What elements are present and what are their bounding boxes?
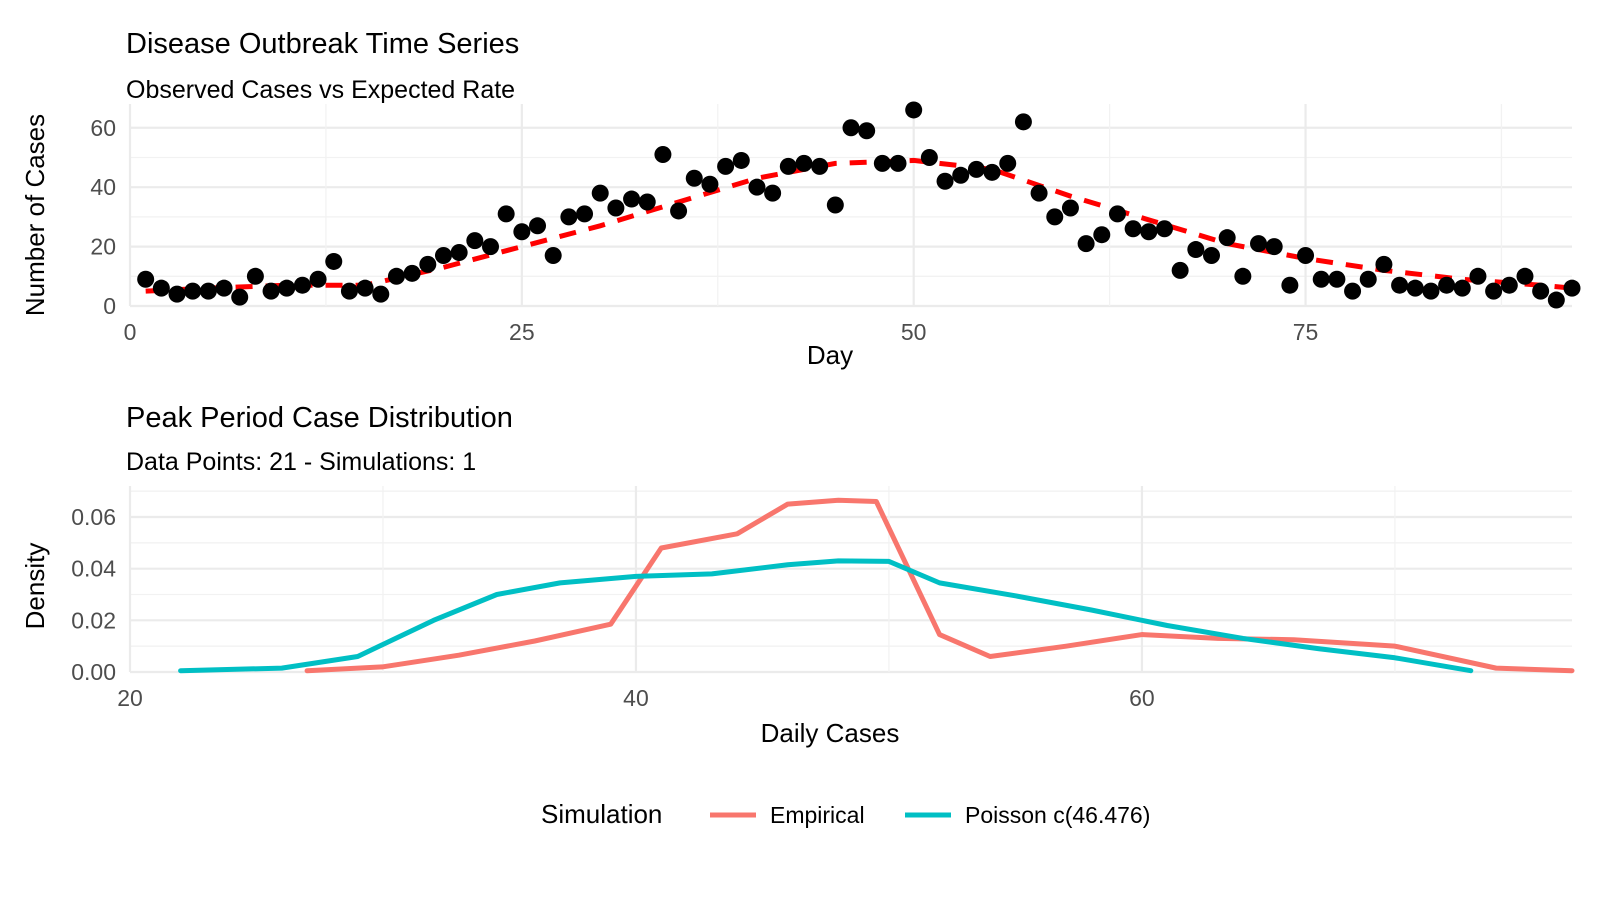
data-point [874,155,891,172]
panel-bottom-subtitle: Data Points: 21 - Simulations: 1 [126,448,476,476]
data-point [419,256,436,273]
data-point [795,155,812,172]
data-point [216,280,233,297]
data-point [294,277,311,294]
x-tick-75: 75 [1293,319,1319,345]
data-point [341,283,358,300]
data-point [670,202,687,219]
y-tick-20: 20 [90,234,116,260]
data-point [482,238,499,255]
data-point [451,244,468,261]
legend-item-label: Empirical [770,802,865,828]
data-point [1313,271,1330,288]
panel-top-x-axis-title: Day [807,340,853,370]
data-point [153,280,170,297]
data-point [1203,247,1220,264]
panel-top-title: Disease Outbreak Time Series [126,28,519,60]
data-point [984,164,1001,181]
data-point [1516,268,1533,285]
data-point [811,158,828,175]
data-point [1078,235,1095,252]
data-point [1031,185,1048,202]
data-point [137,271,154,288]
x-tick-40: 40 [623,685,649,711]
data-point [545,247,562,264]
y-tick-0: 0 [103,293,116,319]
data-point [357,280,374,297]
data-point [310,271,327,288]
data-point [1015,113,1032,130]
data-point [1156,220,1173,237]
data-point [1501,277,1518,294]
data-point [404,265,421,282]
data-point [498,205,515,222]
data-point [623,191,640,208]
figure-canvas: Disease Outbreak Time Series Observed Ca… [0,0,1600,900]
data-point [764,185,781,202]
data-point [1281,277,1298,294]
data-point [576,205,593,222]
data-point [325,253,342,270]
data-point [968,161,985,178]
data-point [263,283,280,300]
data-point [1234,268,1251,285]
data-point [529,217,546,234]
x-tick-60: 60 [1129,685,1155,711]
data-point [1046,208,1063,225]
legend-title: Simulation [541,799,662,829]
panel-bottom-x-axis-title: Daily Cases [761,718,900,748]
data-point [200,283,217,300]
data-point [701,176,718,193]
data-point [1172,262,1189,279]
data-point [1407,280,1424,297]
data-point [748,179,765,196]
data-point [1328,271,1345,288]
data-point [921,149,938,166]
data-point [1548,292,1565,309]
data-point [513,223,530,240]
data-point [1187,241,1204,258]
panel-bottom-title: Peak Period Case Distribution [126,402,513,434]
data-point [278,280,295,297]
legend: Simulation EmpiricalPoisson c(46.476) [541,799,1150,829]
legend-item-label: Poisson c(46.476) [965,802,1150,828]
data-point [1422,283,1439,300]
data-point [1454,280,1471,297]
data-point [890,155,907,172]
data-point [999,155,1016,172]
data-point [247,268,264,285]
data-point [607,199,624,216]
data-point [937,173,954,190]
data-point [592,185,609,202]
data-point [1093,226,1110,243]
data-point [1109,205,1126,222]
data-point [905,101,922,118]
data-point [1062,199,1079,216]
data-point [1219,229,1236,246]
data-point [717,158,734,175]
data-point [435,247,452,264]
data-point [827,197,844,214]
data-point [560,208,577,225]
data-point [1469,268,1486,285]
data-point [1297,247,1314,264]
panel-top-y-axis-title: Number of Cases [20,114,50,316]
data-point [639,194,656,211]
data-point [1564,280,1581,297]
data-point [952,167,969,184]
data-point [372,286,389,303]
data-point [733,152,750,169]
y-tick-0: 0.00 [71,659,116,685]
data-point [184,283,201,300]
y-tick-0.02: 0.02 [71,607,116,633]
data-point [1360,271,1377,288]
data-point [1438,277,1455,294]
panel-top-subtitle: Observed Cases vs Expected Rate [126,76,515,104]
data-point [1532,283,1549,300]
data-point [858,122,875,139]
data-point [1391,277,1408,294]
y-tick-40: 40 [90,174,116,200]
data-point [843,119,860,136]
data-point [388,268,405,285]
data-point [686,170,703,187]
data-point [1344,283,1361,300]
data-point [169,286,186,303]
data-point [1375,256,1392,273]
x-tick-20: 20 [117,685,143,711]
data-point [231,289,248,306]
panel-bottom-y-axis-title: Density [20,543,50,630]
data-point [1140,223,1157,240]
data-point [1250,235,1267,252]
data-point [1125,220,1142,237]
data-point [654,146,671,163]
y-tick-0.06: 0.06 [71,504,116,530]
data-point [466,232,483,249]
data-point [1485,283,1502,300]
x-tick-50: 50 [901,319,927,345]
data-point [780,158,797,175]
data-point [1266,238,1283,255]
x-tick-25: 25 [509,319,535,345]
x-tick-0: 0 [124,319,137,345]
y-tick-60: 60 [90,115,116,141]
y-tick-0.04: 0.04 [71,556,116,582]
